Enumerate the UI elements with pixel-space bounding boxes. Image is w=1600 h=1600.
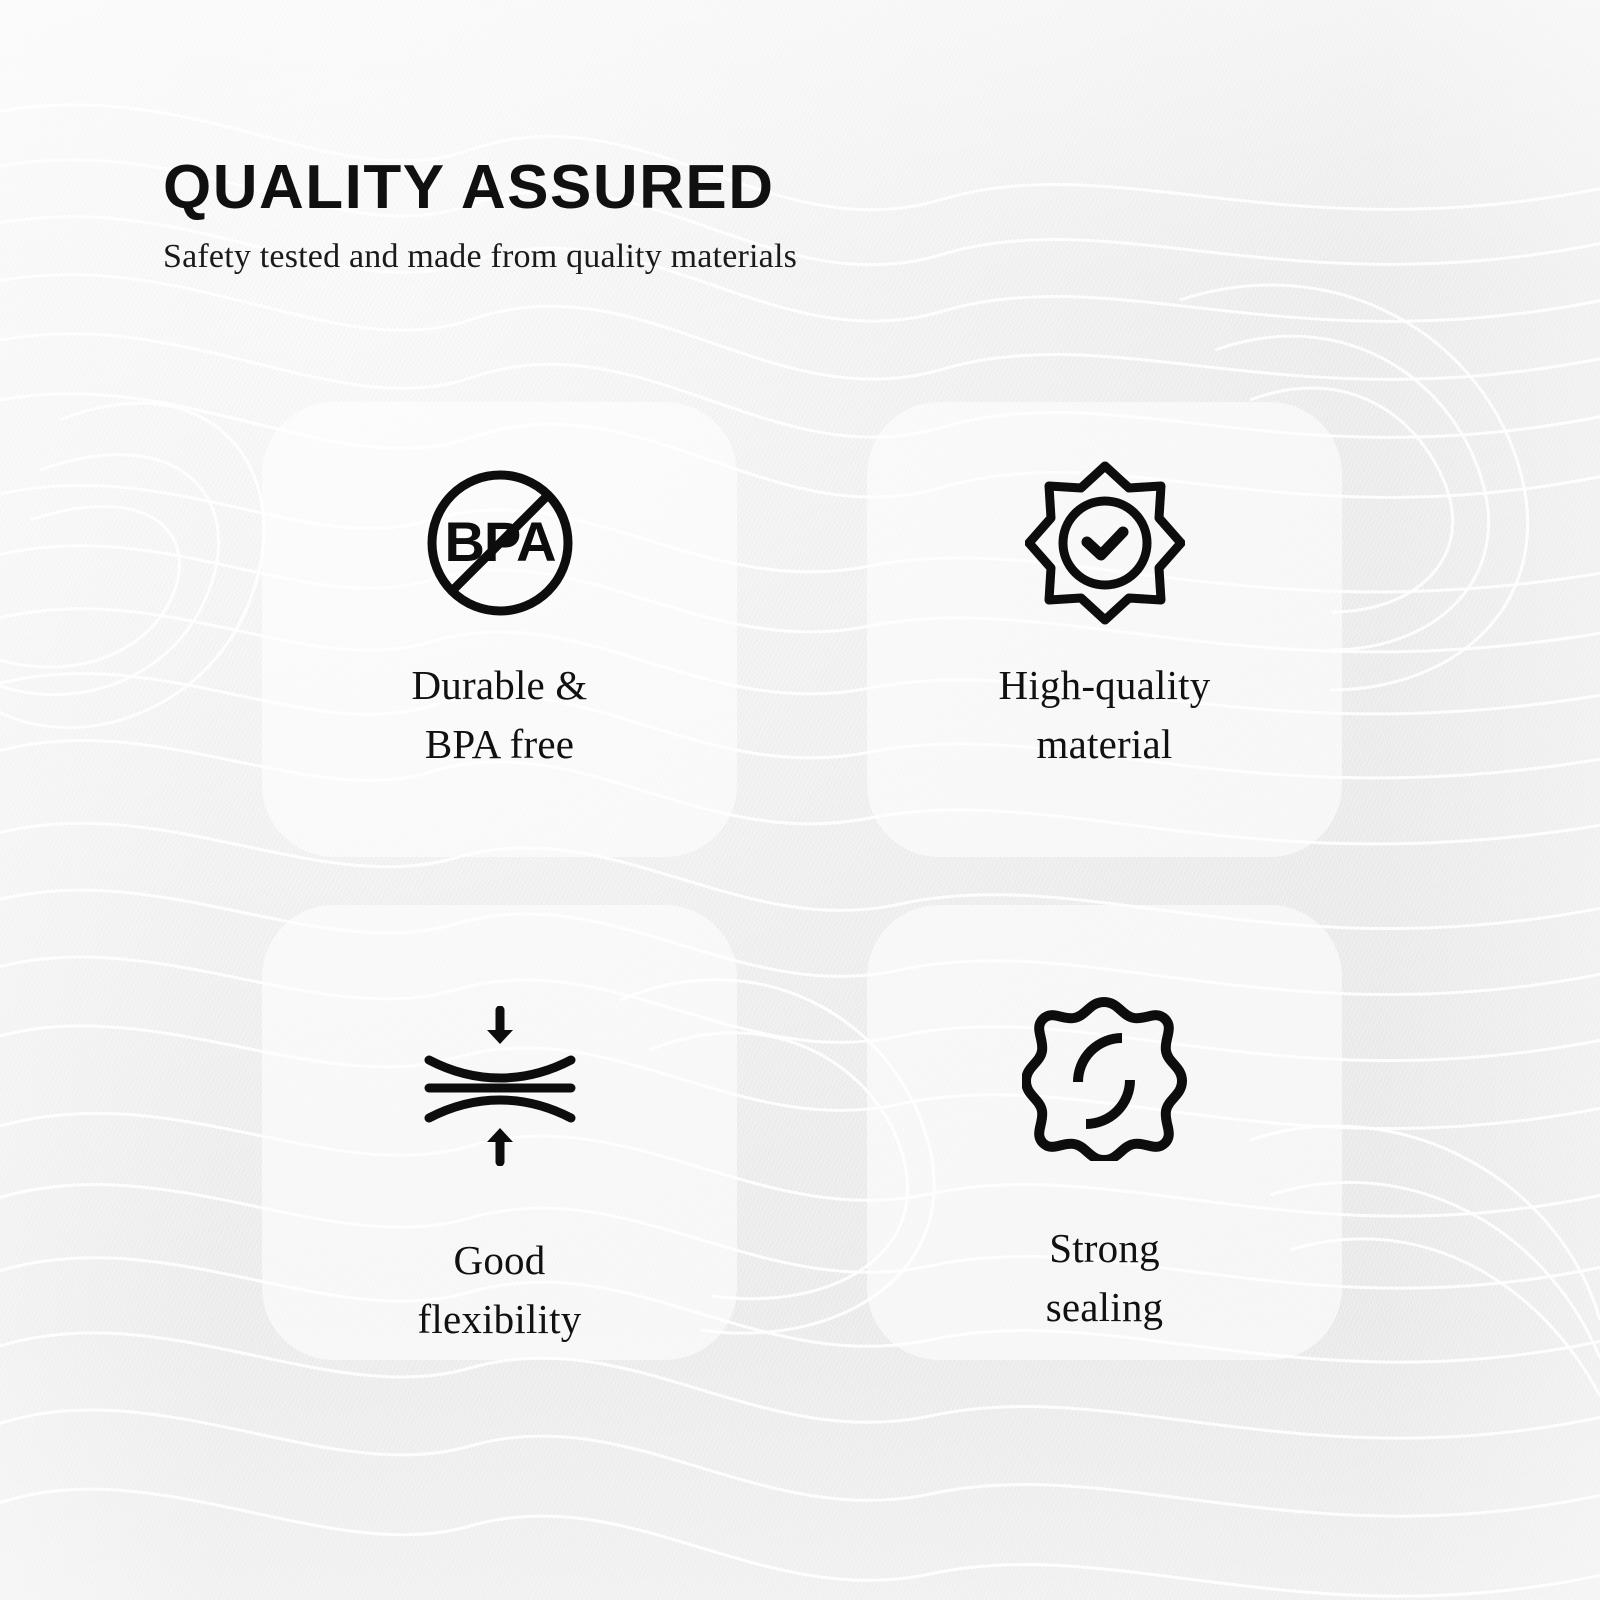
quality-assured-infographic: QUALITY ASSURED Safety tested and made f… xyxy=(0,0,1600,1600)
feature-card-good-flexibility[interactable]: Good flexibility xyxy=(262,905,737,1360)
feature-card-label: Durable & BPA free xyxy=(412,656,588,775)
feature-card-high-quality-material[interactable]: High-quality material xyxy=(867,402,1342,857)
feature-label-line-1: Durable & xyxy=(412,662,588,708)
page-title: QUALITY ASSURED xyxy=(163,155,1163,220)
feature-card-label: High-quality material xyxy=(999,656,1211,775)
quality-badge-check-icon xyxy=(1025,458,1185,628)
feature-label-line-1: High-quality xyxy=(999,662,1211,708)
feature-label-line-2: sealing xyxy=(1046,1278,1164,1337)
feature-label-line-2: material xyxy=(999,715,1211,774)
feature-label-line-1: Good xyxy=(454,1237,546,1283)
feature-card-label: Good flexibility xyxy=(418,1231,582,1350)
feature-label-line-2: flexibility xyxy=(418,1290,582,1349)
svg-text:BPA: BPA xyxy=(444,510,555,573)
bpa-free-icon: BPA xyxy=(420,458,580,628)
feature-card-label: Strong sealing xyxy=(1046,1219,1164,1338)
feature-card-strong-sealing[interactable]: Strong sealing xyxy=(867,905,1342,1360)
feature-label-line-1: Strong xyxy=(1049,1225,1160,1271)
feature-label-line-2: BPA free xyxy=(412,715,588,774)
flexibility-compression-icon xyxy=(415,1001,585,1171)
feature-card-durable-bpa-free[interactable]: BPA Durable & BPA free xyxy=(262,402,737,857)
seal-stamp-icon xyxy=(1022,993,1187,1163)
feature-cards-grid: BPA Durable & BPA free High-quality mate… xyxy=(262,402,1342,1322)
header: QUALITY ASSURED Safety tested and made f… xyxy=(163,155,1163,276)
page-subtitle: Safety tested and made from quality mate… xyxy=(163,238,1163,276)
